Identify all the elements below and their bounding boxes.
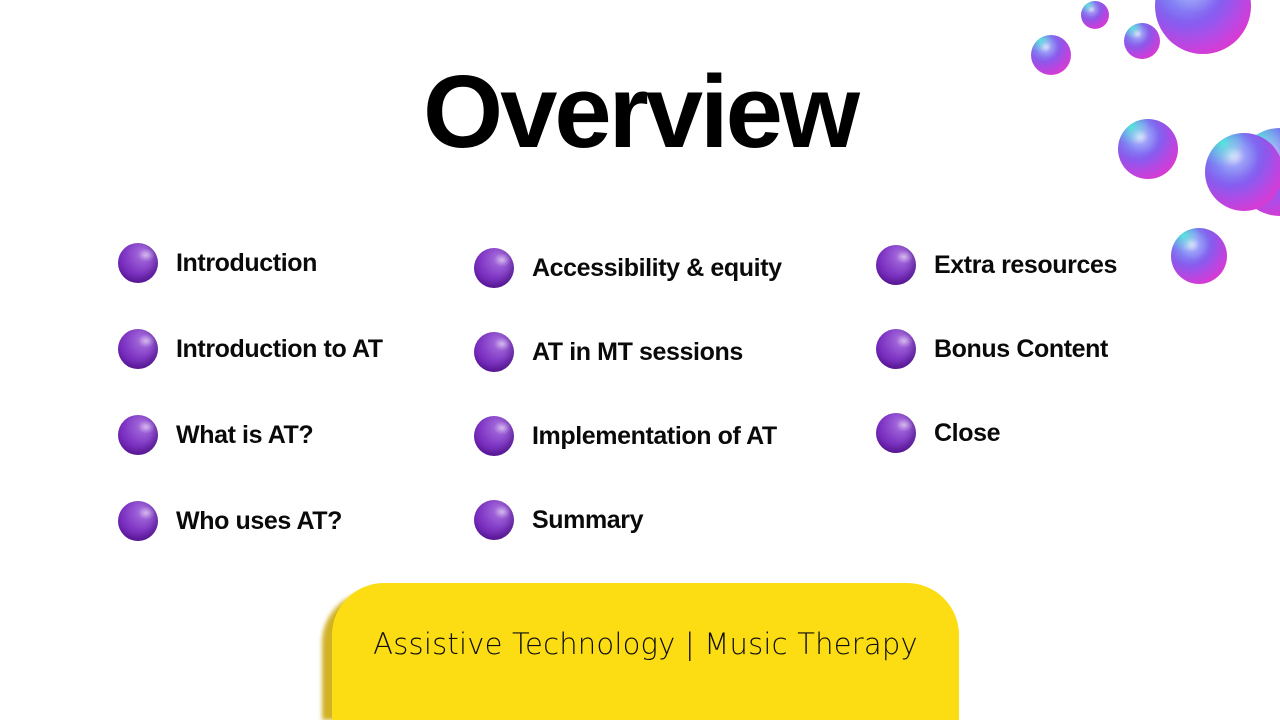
list-item[interactable]: AT in MT sessions bbox=[474, 332, 854, 372]
list-item-label: Close bbox=[934, 419, 1000, 448]
gradient-bubble-icon bbox=[1081, 1, 1109, 29]
list-item-label: Introduction bbox=[176, 249, 317, 278]
page-title: Overview bbox=[0, 58, 1280, 166]
banner-text: Assistive Technology | Music Therapy bbox=[373, 627, 918, 661]
list-item-label: Extra resources bbox=[934, 251, 1117, 280]
list-item[interactable]: Extra resources bbox=[876, 245, 1176, 285]
list-item-label: Bonus Content bbox=[934, 335, 1108, 364]
agenda-column-1: Introduction Introduction to AT What is … bbox=[118, 243, 458, 587]
purple-sphere-bullet-icon bbox=[474, 332, 514, 372]
list-item[interactable]: What is AT? bbox=[118, 415, 458, 455]
purple-sphere-bullet-icon bbox=[474, 248, 514, 288]
purple-sphere-bullet-icon bbox=[876, 329, 916, 369]
purple-sphere-bullet-icon bbox=[118, 243, 158, 283]
list-item-label: Summary bbox=[532, 506, 643, 535]
list-item-label: Who uses AT? bbox=[176, 507, 342, 536]
purple-sphere-bullet-icon bbox=[474, 500, 514, 540]
list-item-label: What is AT? bbox=[176, 421, 313, 450]
list-item[interactable]: Close bbox=[876, 413, 1176, 453]
footer-banner: Assistive Technology | Music Therapy bbox=[322, 583, 959, 720]
purple-sphere-bullet-icon bbox=[474, 416, 514, 456]
slide: Overview Introduction Introduction to AT… bbox=[0, 0, 1280, 720]
gradient-bubble-icon bbox=[1155, 0, 1251, 54]
list-item[interactable]: Introduction to AT bbox=[118, 329, 458, 369]
agenda-column-3: Extra resources Bonus Content Close bbox=[876, 245, 1176, 497]
list-item[interactable]: Accessibility & equity bbox=[474, 248, 854, 288]
agenda-list: Introduction Introduction to AT What is … bbox=[0, 243, 1280, 553]
list-item-label: Accessibility & equity bbox=[532, 254, 782, 283]
purple-sphere-bullet-icon bbox=[876, 245, 916, 285]
purple-sphere-bullet-icon bbox=[118, 501, 158, 541]
list-item-label: Introduction to AT bbox=[176, 335, 383, 364]
list-item-label: AT in MT sessions bbox=[532, 338, 743, 367]
list-item[interactable]: Implementation of AT bbox=[474, 416, 854, 456]
banner-surface: Assistive Technology | Music Therapy bbox=[332, 583, 959, 720]
purple-sphere-bullet-icon bbox=[118, 329, 158, 369]
agenda-column-2: Accessibility & equity AT in MT sessions… bbox=[474, 248, 854, 584]
list-item-label: Implementation of AT bbox=[532, 422, 777, 451]
purple-sphere-bullet-icon bbox=[876, 413, 916, 453]
list-item[interactable]: Introduction bbox=[118, 243, 458, 283]
list-item[interactable]: Who uses AT? bbox=[118, 501, 458, 541]
purple-sphere-bullet-icon bbox=[118, 415, 158, 455]
list-item[interactable]: Summary bbox=[474, 500, 854, 540]
list-item[interactable]: Bonus Content bbox=[876, 329, 1176, 369]
gradient-bubble-icon bbox=[1124, 23, 1160, 59]
